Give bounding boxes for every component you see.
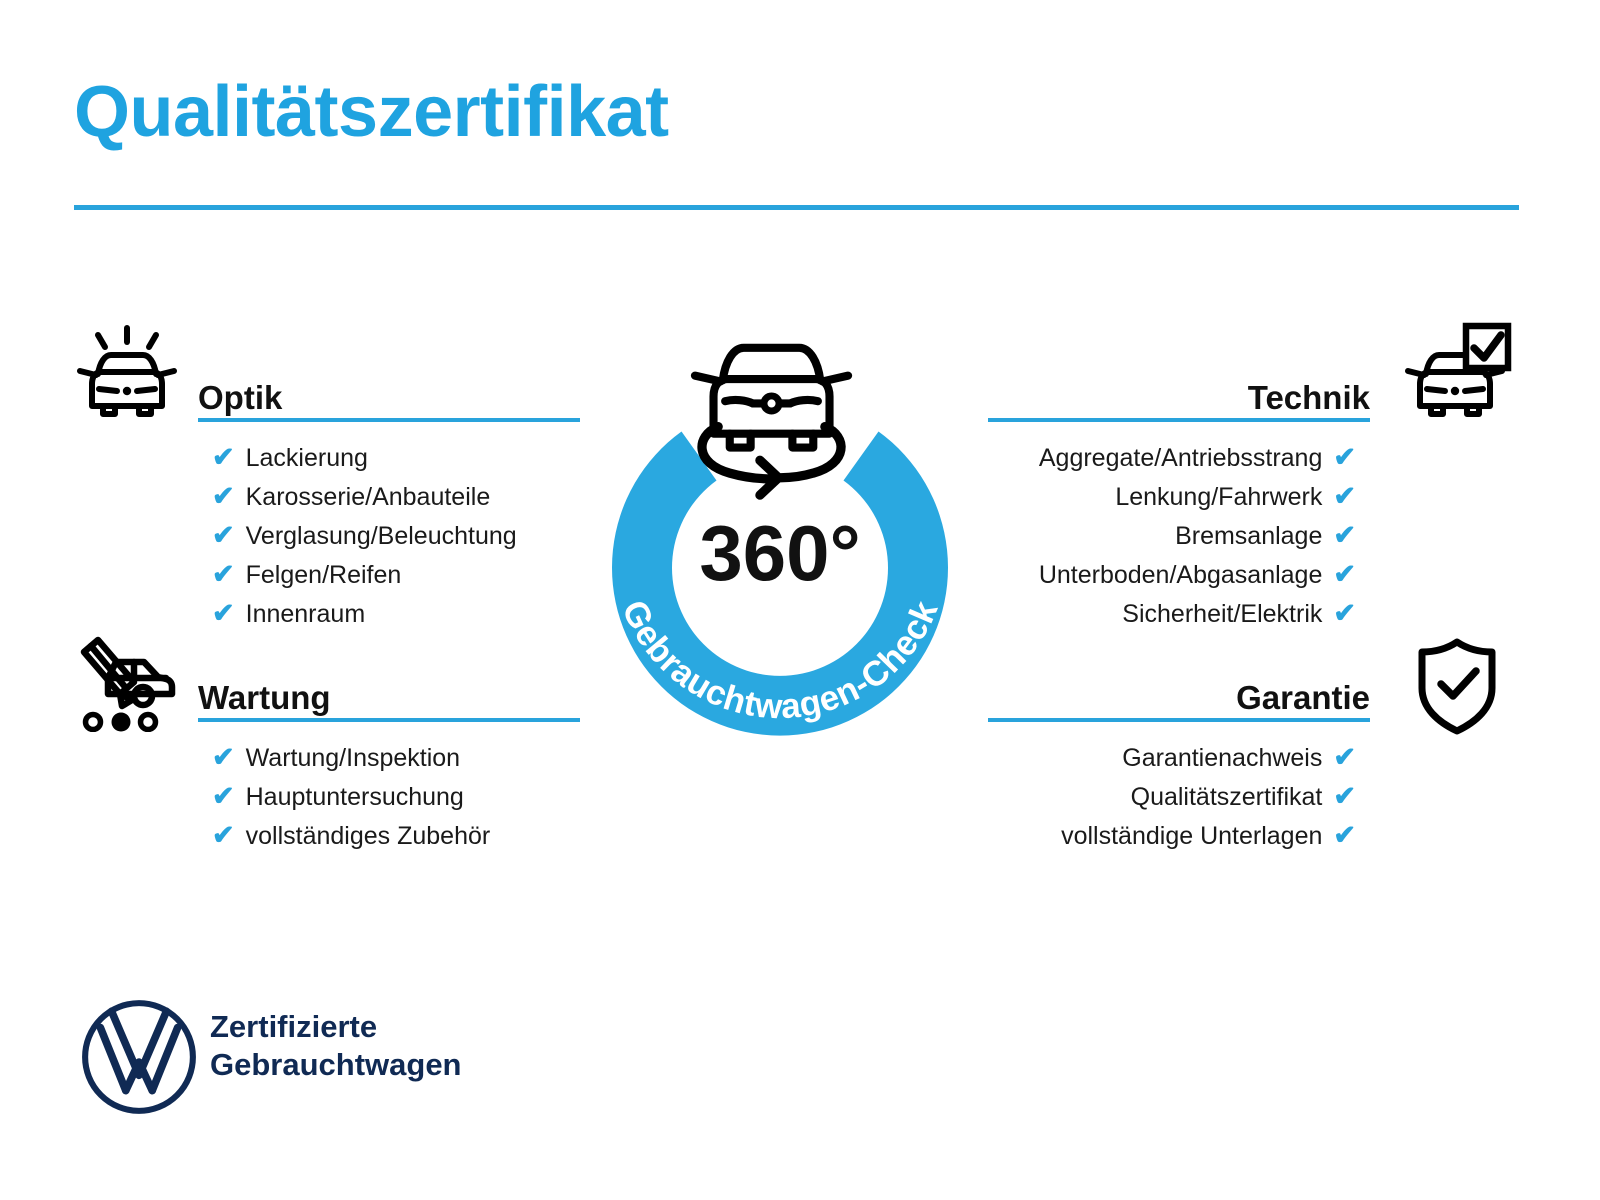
list-item: ✔ Karosserie/Anbauteile [212,483,580,510]
list-item: Lenkung/Fahrwerk ✔ [988,483,1356,510]
list-item: ✔ Felgen/Reifen [212,561,580,588]
section-optik: Optik ✔ Lackierung ✔ Karosserie/Anbautei… [198,366,580,639]
list-item: Garantienachweis ✔ [988,744,1356,771]
certificate-page: Qualitätszertifikat [0,0,1600,1200]
list-item-label: Lenkung/Fahrwerk [1115,485,1322,510]
check-icon: ✔ [1333,822,1356,849]
check-icon: ✔ [1333,444,1356,471]
check-icon: ✔ [1333,744,1356,771]
list-item-label: vollständige Unterlagen [1061,824,1322,849]
car-checkbox-icon [1402,322,1512,422]
check-icon: ✔ [1333,522,1356,549]
section-wartung-title: Wartung [198,681,331,714]
shield-check-icon [1402,636,1512,736]
check-icon: ✔ [1333,783,1356,810]
check-icon: ✔ [212,444,235,471]
check-icon: ✔ [212,522,235,549]
check-icon: ✔ [212,822,235,849]
section-garantie: Garantie Garantienachweis ✔ Qualitätszer… [988,666,1370,861]
list-item: ✔ Verglasung/Beleuchtung [212,522,580,549]
car-service-pencil-icon [72,632,182,732]
list-item-label: Innenraum [246,602,366,627]
list-item: Sicherheit/Elektrik ✔ [988,600,1356,627]
list-item-label: Aggregate/Antriebsstrang [1039,446,1323,471]
list-item: ✔ vollständiges Zubehör [212,822,580,849]
list-item-label: Sicherheit/Elektrik [1122,602,1322,627]
list-item-label: Lackierung [246,446,368,471]
check-icon: ✔ [212,483,235,510]
section-optik-title: Optik [198,381,282,414]
list-item-label: Felgen/Reifen [246,563,402,588]
section-optik-list: ✔ Lackierung ✔ Karosserie/Anbauteile ✔ V… [212,444,580,627]
section-optik-divider [198,418,580,422]
check-icon: ✔ [212,600,235,627]
section-garantie-header: Garantie [988,666,1370,722]
footer-line-2: Gebrauchtwagen [210,1046,462,1084]
section-wartung: Wartung ✔ Wartung/Inspektion ✔ Hauptunte… [198,666,580,861]
list-item-label: Karosserie/Anbauteile [246,485,491,510]
section-technik-list: Aggregate/Antriebsstrang ✔ Lenkung/Fahrw… [988,444,1356,627]
check-icon: ✔ [1333,561,1356,588]
list-item: Bremsanlage ✔ [988,522,1356,549]
list-item: Qualitätszertifikat ✔ [988,783,1356,810]
badge-center-label: 360° [699,509,860,597]
section-technik-header: Technik [988,366,1370,422]
title-divider [74,205,1519,210]
list-item: Unterboden/Abgasanlage ✔ [988,561,1356,588]
check-icon: ✔ [1333,483,1356,510]
list-item-label: vollständiges Zubehör [246,824,491,849]
check-icon: ✔ [1333,600,1356,627]
section-garantie-divider [988,718,1370,722]
list-item-label: Unterboden/Abgasanlage [1039,563,1323,588]
list-item-label: Qualitätszertifikat [1131,785,1323,810]
vw-logo-icon [78,996,200,1118]
section-garantie-title: Garantie [1236,681,1370,714]
section-optik-header: Optik [198,366,580,422]
section-wartung-list: ✔ Wartung/Inspektion ✔ Hauptuntersuchung… [212,744,580,849]
list-item: ✔ Innenraum [212,600,580,627]
list-item-label: Hauptuntersuchung [246,785,464,810]
check-icon: ✔ [212,744,235,771]
check-icon: ✔ [212,561,235,588]
footer-line-1: Zertifizierte [210,1008,462,1046]
list-item-label: Bremsanlage [1175,524,1322,549]
section-technik-title: Technik [1248,381,1370,414]
section-technik: Technik Aggregate/Antriebsstrang ✔ Lenku… [988,366,1370,639]
section-garantie-list: Garantienachweis ✔ Qualitätszertifikat ✔… [988,744,1356,849]
section-technik-divider [988,418,1370,422]
list-item: Aggregate/Antriebsstrang ✔ [988,444,1356,471]
car-rotate-icon [695,348,848,495]
list-item: vollständige Unterlagen ✔ [988,822,1356,849]
footer-brand-text: Zertifizierte Gebrauchtwagen [210,1008,462,1085]
section-wartung-header: Wartung [198,666,580,722]
page-title: Qualitätszertifikat [74,76,669,148]
list-item-label: Garantienachweis [1122,746,1322,771]
list-item: ✔ Wartung/Inspektion [212,744,580,771]
list-item: ✔ Hauptuntersuchung [212,783,580,810]
list-item-label: Wartung/Inspektion [246,746,460,771]
section-wartung-divider [198,718,580,722]
car-shine-icon [72,322,182,422]
list-item-label: Verglasung/Beleuchtung [246,524,517,549]
360-check-badge: Gebrauchtwagen-Check 360° [560,305,1000,755]
list-item: ✔ Lackierung [212,444,580,471]
check-icon: ✔ [212,783,235,810]
